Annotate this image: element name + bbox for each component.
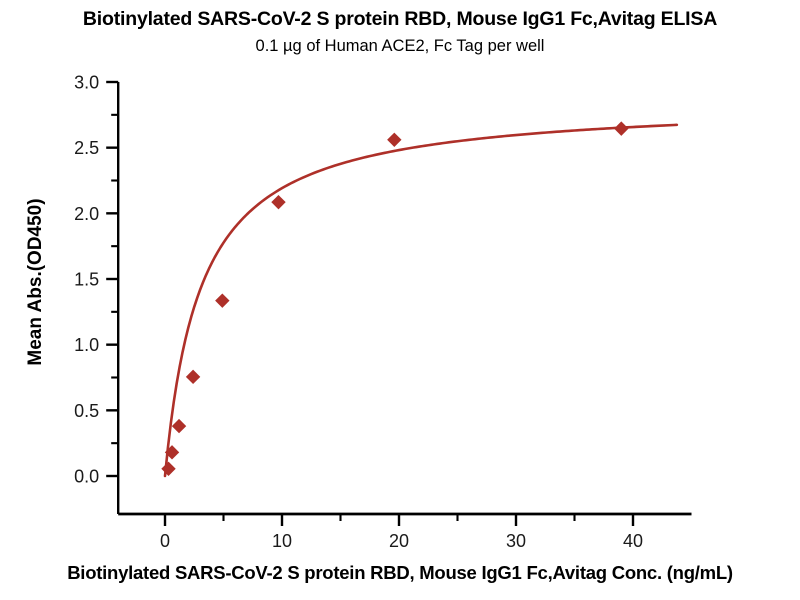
y-tick-label: 2.5 xyxy=(74,138,99,158)
x-axis-major-ticks xyxy=(165,514,633,526)
y-tick-label: 3.0 xyxy=(74,73,99,93)
y-tick-label: 1.5 xyxy=(74,270,99,290)
data-point-marker xyxy=(186,370,200,384)
y-tick-label: 2.0 xyxy=(74,204,99,224)
data-point-marker xyxy=(614,121,628,135)
series-fit-curve xyxy=(165,125,677,476)
x-tick-label: 30 xyxy=(506,531,526,551)
y-axis-tick-labels: 0.00.51.01.52.02.53.0 xyxy=(74,73,99,487)
x-tick-label: 20 xyxy=(389,531,409,551)
plot-area: 0.00.51.01.52.02.53.0 010203040 xyxy=(0,0,800,600)
elisa-chart-figure: Biotinylated SARS-CoV-2 S protein RBD, M… xyxy=(0,0,800,600)
x-tick-label: 0 xyxy=(160,531,170,551)
data-point-marker xyxy=(161,462,175,476)
series-data-markers xyxy=(161,121,628,476)
y-tick-label: 1.0 xyxy=(74,335,99,355)
x-tick-label: 10 xyxy=(272,531,292,551)
x-axis-tick-labels: 010203040 xyxy=(160,531,643,551)
data-point-marker xyxy=(172,419,186,433)
y-axis-major-ticks xyxy=(106,82,118,476)
data-point-marker xyxy=(271,195,285,209)
x-tick-label: 40 xyxy=(623,531,643,551)
y-tick-label: 0.0 xyxy=(74,467,99,487)
y-tick-label: 0.5 xyxy=(74,401,99,421)
data-point-marker xyxy=(387,133,401,147)
data-point-marker xyxy=(215,293,229,307)
